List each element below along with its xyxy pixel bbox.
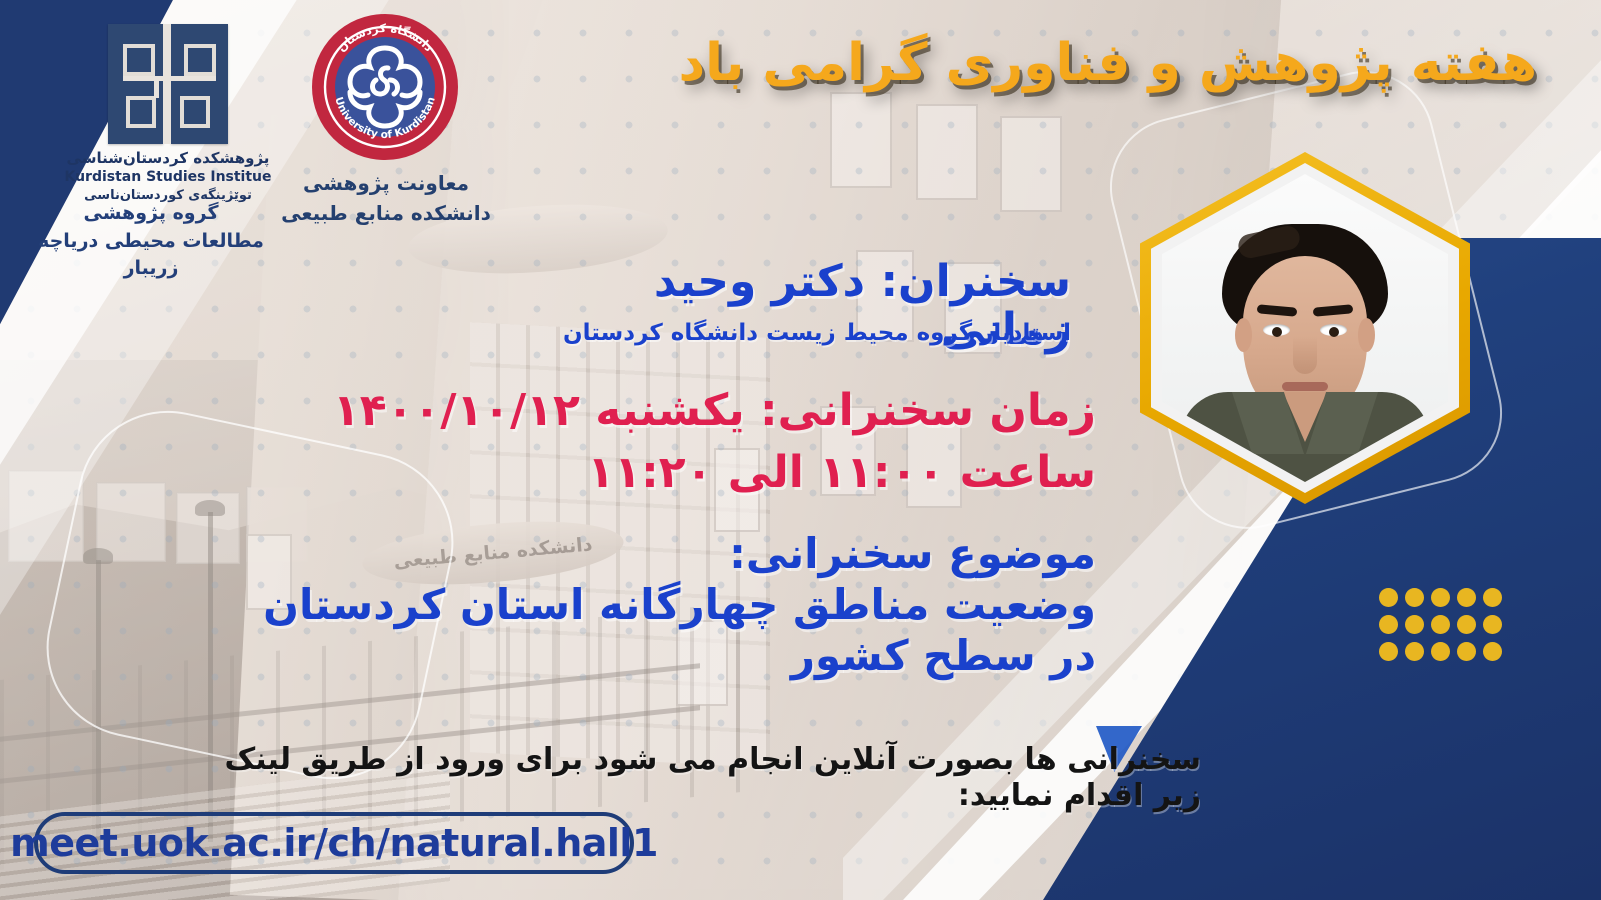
portrait-mouth <box>1282 382 1328 391</box>
seminar-time: ساعت ۱۱:۰۰ الی ۱۱:۲۰ <box>456 448 1096 497</box>
portrait-eye-left <box>1263 324 1290 336</box>
portrait-ear-left <box>1235 318 1252 352</box>
meeting-link-text[interactable]: meet.uok.ac.ir/ch/natural.hall1 <box>10 821 658 865</box>
uok-seal-icon: دانشگاه کردستان University of Kurdistan <box>310 12 460 162</box>
seminar-topic: موضوع سخنرانی: وضعیت مناطق چهارگانه استا… <box>116 528 1096 682</box>
decor-dot <box>1483 642 1502 661</box>
decor-dot <box>1379 615 1398 634</box>
ksi-monogram-icon <box>108 24 228 144</box>
speaker-affiliation: استادیار گروه محیط زیست دانشگاه کردستان <box>511 320 1071 348</box>
speaker-photo-frame <box>1140 152 1470 504</box>
portrait-nose <box>1293 336 1317 374</box>
decor-dot <box>1405 588 1424 607</box>
decor-dot <box>1483 615 1502 634</box>
ksi-group-line2: مطالعات محیطی دریاچه زریبار <box>20 228 282 283</box>
ksi-research-group: گروه پژوهشی مطالعات محیطی دریاچه زریبار <box>20 200 282 283</box>
decor-dot <box>1457 642 1476 661</box>
decor-dot <box>1431 642 1450 661</box>
ksi-caption: پژوهشکده کردستان‌شناسی Kurdistan Studies… <box>58 148 278 205</box>
portrait-eye-right <box>1320 324 1347 336</box>
ksi-group-line1: گروه پژوهشی <box>20 200 282 228</box>
decor-dot <box>1431 615 1450 634</box>
decor-dot <box>1483 588 1502 607</box>
online-attendance-note: سخنرانی ها بصورت آنلاین انجام می شود برا… <box>171 742 1201 814</box>
topic-line-3: در سطح کشور <box>116 630 1096 681</box>
meeting-link-button[interactable]: meet.uok.ac.ir/ch/natural.hall1 <box>34 812 634 874</box>
decor-dot <box>1379 588 1398 607</box>
poster-headline: هفته پژوهش و فناوری گرامی باد <box>617 34 1537 94</box>
decor-dot <box>1457 615 1476 634</box>
decor-dot <box>1405 642 1424 661</box>
seminar-date: زمان سخنرانی: یکشنبه ۱۴۰۰/۱۰/۱۲ <box>196 386 1096 435</box>
decor-dot <box>1379 642 1398 661</box>
seminar-poster: دانشکده منابع طبیعی پژوهشکده کردستان‌شنا… <box>0 0 1601 900</box>
topic-line-2: وضعیت مناطق چهارگانه استان کردستان <box>116 579 1096 630</box>
ksi-caption-fa: پژوهشکده کردستان‌شناسی <box>58 148 278 168</box>
ksi-caption-en: Kurdistan Studies Institue <box>58 168 278 187</box>
uok-caption: معاونت پژوهشی دانشکده منابع طبیعی <box>280 168 492 228</box>
uok-caption-line1: معاونت پژوهشی <box>280 168 492 198</box>
topic-label: موضوع سخنرانی: <box>116 528 1096 579</box>
decor-dot-grid <box>1372 588 1502 669</box>
portrait-ear-right <box>1358 318 1375 352</box>
decor-dot <box>1457 588 1476 607</box>
decor-dot <box>1405 615 1424 634</box>
decor-dot <box>1431 588 1450 607</box>
uok-caption-line2: دانشکده منابع طبیعی <box>280 198 492 228</box>
